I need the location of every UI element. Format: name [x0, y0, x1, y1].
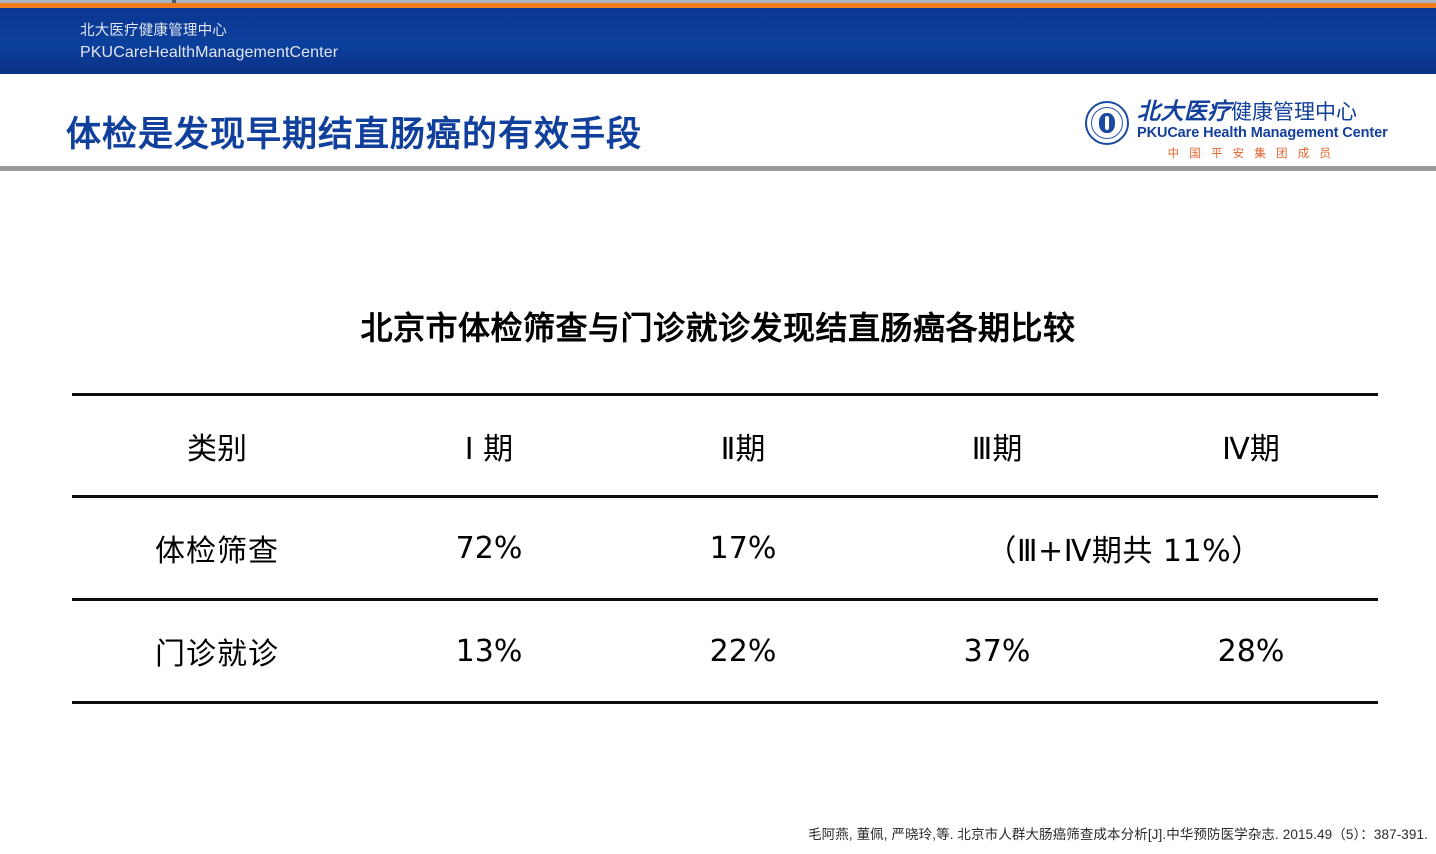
brand-band-name-cn: 北大医疗健康管理中心 [80, 21, 338, 42]
row-label-screening: 体检筛查 [72, 497, 362, 600]
column-header-category: 类别 [72, 395, 362, 497]
brand-band: 北大医疗健康管理中心 PKUCareHealthManagementCenter [0, 8, 1436, 74]
page-title: 体检是发现早期结直肠癌的有效手段 [66, 106, 642, 157]
table-title: 北京市体检筛查与门诊就诊发现结直肠癌各期比较 [0, 303, 1436, 349]
row-label-outpatient: 门诊就诊 [72, 600, 362, 703]
column-header-stage-1: Ⅰ 期 [362, 395, 616, 497]
table-header-row: 类别 Ⅰ 期 Ⅱ期 Ⅲ期 Ⅳ期 [72, 395, 1378, 497]
column-header-stage-4: Ⅳ期 [1124, 395, 1378, 497]
citation-footnote: 毛阿燕, 董佩, 严晓玲,等. 北京市人群大肠癌筛查成本分析[J].中华预防医学… [808, 823, 1428, 843]
cell-screening-stage-2: 17% [616, 497, 870, 600]
logo-member-line: 中 国 平 安 集 团 成 员 [1137, 145, 1365, 161]
seal-caduceus-icon [1099, 113, 1115, 133]
cell-outpatient-stage-1: 13% [362, 600, 616, 703]
logo-lockup: 北大医疗健康管理中心 PKUCare Health Management Cen… [1085, 99, 1385, 161]
logo-name-en: PKUCare Health Management Center [1137, 125, 1387, 142]
cell-screening-stage-3-4-merged: （Ⅲ+Ⅳ期共 11%） [870, 497, 1378, 600]
brand-band-name-en: PKUCareHealthManagementCenter [80, 42, 338, 63]
logo-name-cn: 北大医疗健康管理中心 [1137, 99, 1387, 125]
seal-emblem-icon [1085, 101, 1129, 145]
comparison-table: 类别 Ⅰ 期 Ⅱ期 Ⅲ期 Ⅳ期 体检筛查 72% 17% （Ⅲ+Ⅳ期共 11%）… [72, 393, 1378, 704]
column-header-stage-2: Ⅱ期 [616, 395, 870, 497]
cell-screening-stage-1: 72% [362, 497, 616, 600]
title-divider [0, 166, 1436, 171]
column-header-stage-3: Ⅲ期 [870, 395, 1124, 497]
logo-brandmark-cn: 北大医疗 [1137, 99, 1231, 125]
logo-textblock: 北大医疗健康管理中心 PKUCare Health Management Cen… [1137, 99, 1387, 161]
cell-outpatient-stage-3: 37% [870, 600, 1124, 703]
table-row: 门诊就诊 13% 22% 37% 28% [72, 600, 1378, 703]
cell-outpatient-stage-2: 22% [616, 600, 870, 703]
brand-band-text: 北大医疗健康管理中心 PKUCareHealthManagementCenter [80, 21, 338, 63]
table-row: 体检筛查 72% 17% （Ⅲ+Ⅳ期共 11%） [72, 497, 1378, 600]
cell-outpatient-stage-4: 28% [1124, 600, 1378, 703]
logo-sub-cn: 健康管理中心 [1231, 100, 1357, 124]
